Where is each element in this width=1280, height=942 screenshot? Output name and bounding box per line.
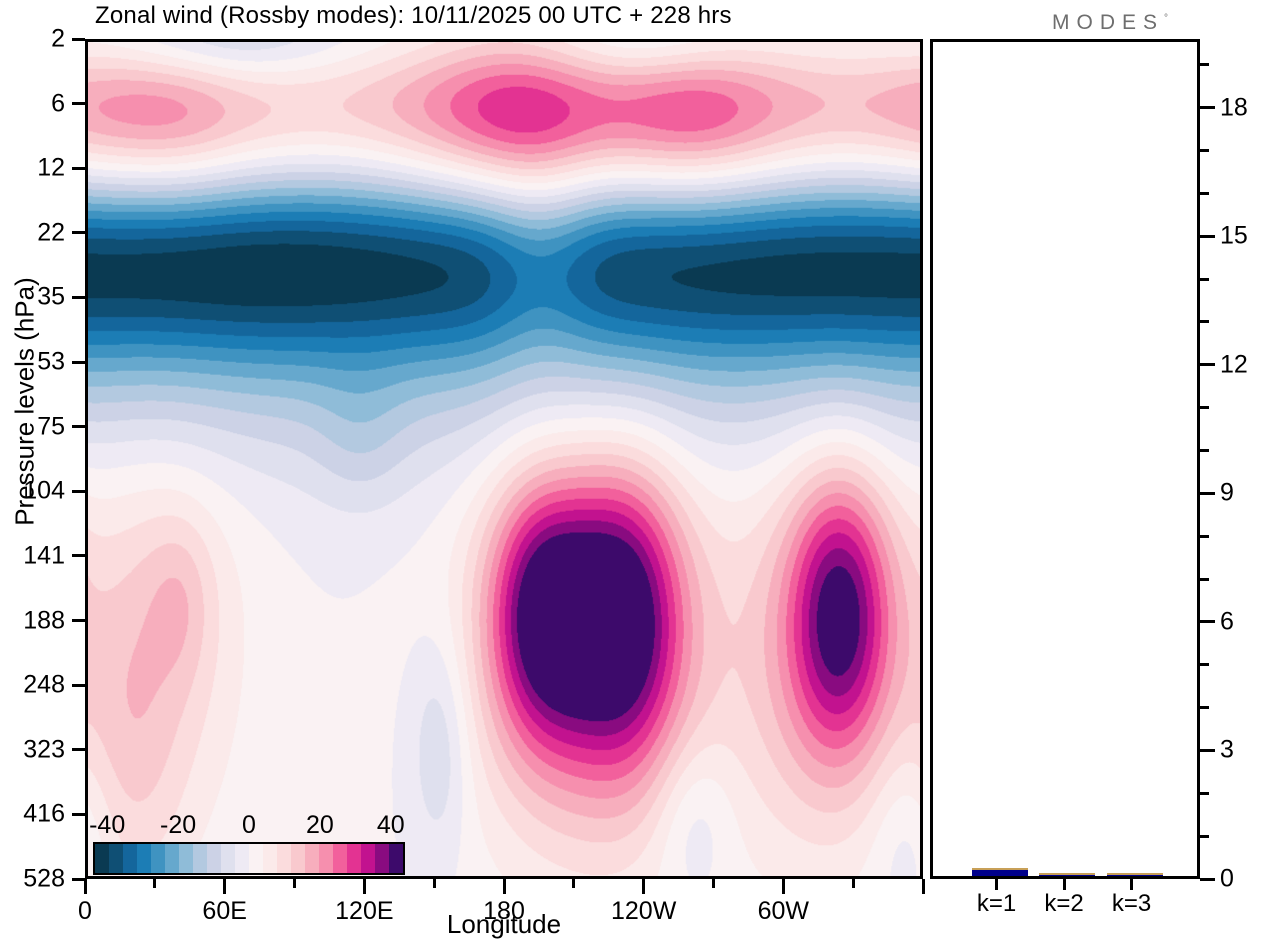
energy-bars <box>933 42 1197 876</box>
page-title: Zonal wind (Rossby modes): 10/11/2025 00… <box>95 2 732 30</box>
colorbar-swatch <box>179 844 193 873</box>
wavenumber-label: k=2 <box>1044 890 1083 918</box>
pressure-tick <box>72 490 85 493</box>
energy-tick <box>1200 63 1209 66</box>
longitude-tick <box>293 879 296 888</box>
pressure-tick <box>72 619 85 622</box>
colorbar-swatch <box>235 844 249 873</box>
pressure-tick <box>72 38 85 41</box>
energy-bar <box>1039 873 1095 876</box>
colorbar-swatch <box>165 844 179 873</box>
pressure-tick <box>72 296 85 299</box>
colorbar-swatch <box>193 844 207 873</box>
colorbar-tick-label: -20 <box>160 811 196 840</box>
pressure-tick <box>72 554 85 557</box>
modes-watermark: MODES° <box>1052 11 1168 35</box>
colorbar-swatch <box>291 844 305 873</box>
colorbar-swatch <box>361 844 375 873</box>
wavenumber-label: k=3 <box>1112 890 1151 918</box>
energy-tick <box>1200 663 1209 666</box>
wavenumber-tick <box>1063 879 1066 890</box>
energy-tick-label: 3 <box>1220 736 1234 765</box>
energy-tick <box>1200 363 1215 366</box>
colorbar-swatch <box>207 844 221 873</box>
registered-mark-icon: ° <box>1164 13 1168 24</box>
energy-tick <box>1200 749 1215 752</box>
longitude-tick <box>852 879 855 888</box>
pressure-tick-label: 528 <box>0 865 65 894</box>
energy-tick <box>1200 578 1209 581</box>
longitude-axis-title: Longitude <box>85 909 923 940</box>
longitude-tick <box>922 879 925 894</box>
energy-bar <box>1107 873 1163 876</box>
energy-tick <box>1200 620 1215 623</box>
pressure-tick <box>72 425 85 428</box>
pressure-tick-label: 416 <box>0 800 65 829</box>
energy-tick <box>1200 235 1215 238</box>
energy-tick <box>1200 706 1209 709</box>
pressure-tick <box>72 684 85 687</box>
pressure-tick <box>72 361 85 364</box>
longitude-tick <box>503 879 506 894</box>
pressure-tick-label: 12 <box>0 154 65 183</box>
colorbar-swatch <box>347 844 361 873</box>
energy-tick-label: 18 <box>1220 93 1248 122</box>
energy-tick <box>1200 149 1209 152</box>
longitude-tick <box>153 879 156 888</box>
modes-watermark-text: MODES <box>1052 11 1164 34</box>
longitude-tick <box>572 879 575 888</box>
energy-tick <box>1200 492 1215 495</box>
colorbar-swatch <box>249 844 263 873</box>
energy-tick-label: 12 <box>1220 350 1248 379</box>
colorbar-tick-label: 20 <box>306 811 334 840</box>
colorbar-swatch <box>123 844 137 873</box>
colorbar-swatches <box>93 842 405 875</box>
energy-tick <box>1200 792 1209 795</box>
colorbar-swatch <box>109 844 123 873</box>
wavenumber-label: k=1 <box>977 890 1016 918</box>
energy-bar <box>972 868 1028 876</box>
colorbar-swatch <box>319 844 333 873</box>
chart-figure: Zonal wind (Rossby modes): 10/11/2025 00… <box>0 0 1280 942</box>
longitude-tick <box>223 879 226 894</box>
colorbar-swatch <box>95 844 109 873</box>
energy-tick-label: 9 <box>1220 479 1234 508</box>
pressure-tick <box>72 231 85 234</box>
longitude-tick <box>433 879 436 888</box>
energy-bar-panel <box>930 39 1200 879</box>
pressure-axis-title: Pressure levels (hPa) <box>10 182 41 622</box>
colorbar-swatch <box>389 844 403 873</box>
pressure-tick-label: 6 <box>0 89 65 118</box>
wavenumber-tick <box>995 879 998 890</box>
colorbar-swatch <box>277 844 291 873</box>
colorbar: -40-2002040 <box>93 825 405 863</box>
pressure-tick-label: 323 <box>0 735 65 764</box>
pressure-tick <box>72 748 85 751</box>
energy-tick <box>1200 535 1209 538</box>
pressure-tick-label: 2 <box>0 25 65 54</box>
colorbar-tick-label: 0 <box>242 811 256 840</box>
longitude-tick <box>782 879 785 894</box>
energy-tick <box>1200 106 1215 109</box>
energy-tick <box>1200 192 1209 195</box>
colorbar-swatch <box>305 844 319 873</box>
wavenumber-tick <box>1130 879 1133 890</box>
pressure-tick <box>72 102 85 105</box>
pressure-tick <box>72 813 85 816</box>
pressure-tick <box>72 167 85 170</box>
colorbar-tick-label: -40 <box>89 811 125 840</box>
energy-tick-label: 15 <box>1220 222 1248 251</box>
energy-tick <box>1200 835 1209 838</box>
longitude-tick <box>363 879 366 894</box>
colorbar-swatch <box>137 844 151 873</box>
energy-tick-label: 0 <box>1220 865 1234 894</box>
colorbar-swatch <box>151 844 165 873</box>
contour-plot-panel <box>85 39 923 879</box>
energy-tick <box>1200 449 1209 452</box>
energy-tick <box>1200 278 1209 281</box>
energy-tick-label: 6 <box>1220 607 1234 636</box>
colorbar-swatch <box>333 844 347 873</box>
colorbar-swatch <box>375 844 389 873</box>
colorbar-swatch <box>221 844 235 873</box>
colorbar-tick-label: 40 <box>377 811 405 840</box>
longitude-tick <box>712 879 715 888</box>
zonal-wind-contour-field <box>88 42 920 876</box>
longitude-tick <box>642 879 645 894</box>
energy-tick <box>1200 406 1209 409</box>
longitude-tick <box>84 879 87 894</box>
colorbar-swatch <box>263 844 277 873</box>
pressure-tick-label: 248 <box>0 671 65 700</box>
energy-tick <box>1200 878 1215 881</box>
energy-tick <box>1200 320 1209 323</box>
